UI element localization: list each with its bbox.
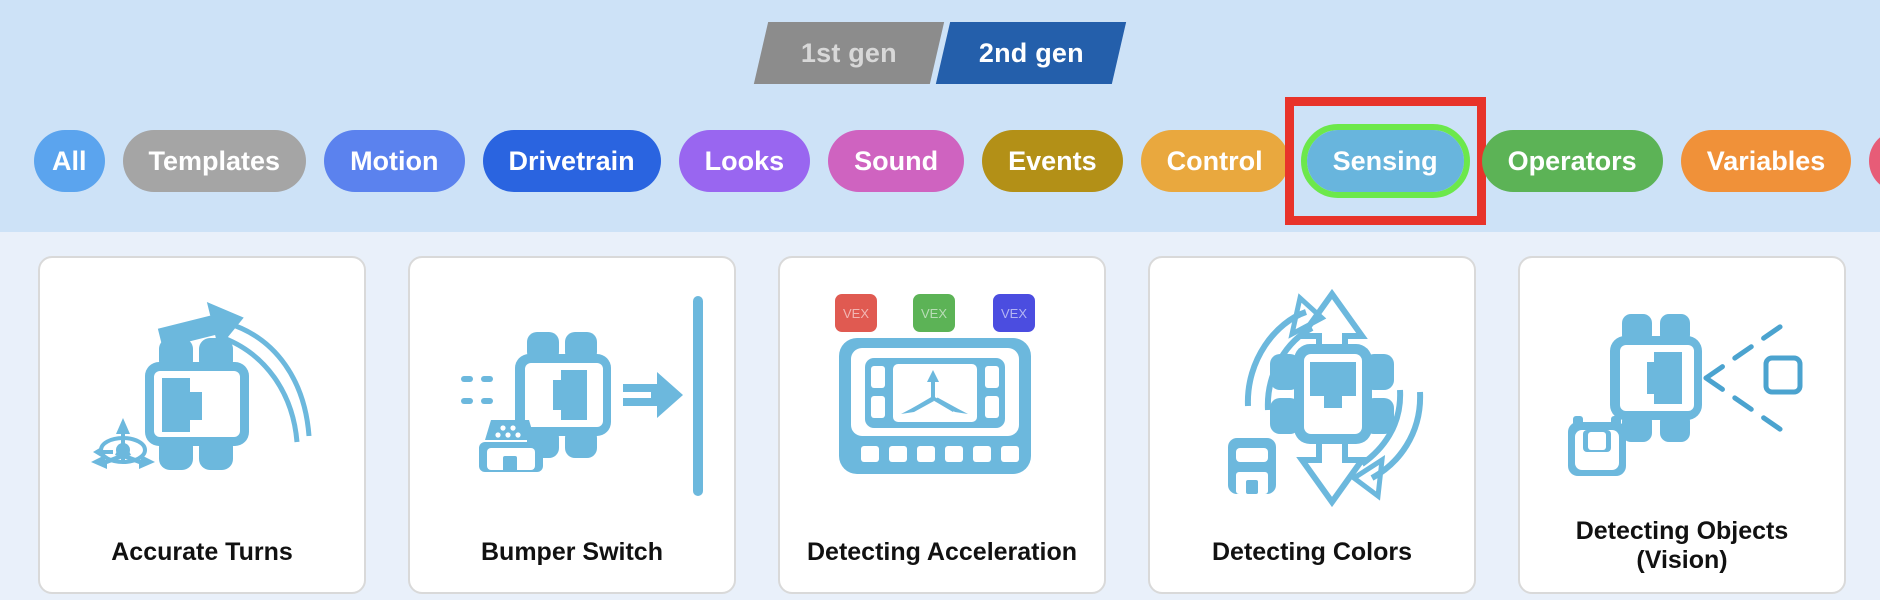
category-pill-label: Looks: [705, 146, 785, 177]
category-pill-label: Drivetrain: [509, 146, 635, 177]
category-pill-wrap-my-blocks: My Blocks: [1869, 130, 1880, 192]
robot-bumper-switch-icon: [410, 258, 734, 538]
category-pill-events[interactable]: Events: [982, 130, 1123, 192]
category-pill-my-blocks[interactable]: My Blocks: [1869, 130, 1880, 192]
tab-2nd-gen-label: 2nd gen: [979, 38, 1084, 69]
card-title: Detecting Acceleration: [780, 538, 1104, 593]
category-pill-all[interactable]: All: [34, 130, 105, 192]
category-pill-wrap-all: All: [34, 130, 105, 192]
generation-tab-bar: 1st gen 2nd gen: [0, 22, 1880, 84]
card-title: Bumper Switch: [410, 538, 734, 593]
category-pill-control[interactable]: Control: [1141, 130, 1289, 192]
tutorial-card-detecting-colors[interactable]: Detecting Colors: [1148, 256, 1476, 594]
brain-accelerometer-icon: VEX VEX VEX: [780, 258, 1104, 538]
card-title-line1: Bumper Switch: [481, 538, 663, 566]
tutorial-card-detecting-acceleration[interactable]: VEX VEX VEX: [778, 256, 1106, 594]
category-pill-label: Sound: [854, 146, 938, 177]
robot-turn-arrow-icon: [40, 258, 364, 538]
category-pill-wrap-control: Control: [1141, 130, 1289, 192]
category-filter-bar: AllTemplatesMotionDrivetrainLooksSoundEv…: [0, 128, 1880, 194]
category-pill-label: All: [52, 146, 87, 177]
category-pill-wrap-sensing: Sensing: [1307, 130, 1464, 192]
category-pill-label: Operators: [1508, 146, 1637, 177]
category-pill-sensing[interactable]: Sensing: [1307, 130, 1464, 192]
category-pill-wrap-motion: Motion: [324, 130, 464, 192]
category-pill-label: Sensing: [1333, 146, 1438, 177]
tutorials-browser: 1st gen 2nd gen AllTemplatesMotionDrivet…: [0, 0, 1880, 600]
category-pill-operators[interactable]: Operators: [1482, 130, 1663, 192]
header-panel: 1st gen 2nd gen AllTemplatesMotionDrivet…: [0, 0, 1880, 232]
category-pill-wrap-drivetrain: Drivetrain: [483, 130, 661, 192]
category-pill-looks[interactable]: Looks: [679, 130, 811, 192]
category-pill-motion[interactable]: Motion: [324, 130, 464, 192]
card-title-line1: Detecting Acceleration: [807, 538, 1077, 566]
card-title-line1: Accurate Turns: [111, 538, 293, 566]
vex-badge-green: VEX: [913, 294, 955, 332]
tab-2nd-gen[interactable]: 2nd gen: [936, 22, 1126, 84]
vex-badge-red: VEX: [835, 294, 877, 332]
card-title-line1: Detecting Objects: [1576, 517, 1789, 545]
category-pill-label: Variables: [1707, 146, 1826, 177]
category-pill-wrap-sound: Sound: [828, 130, 964, 192]
svg-text:VEX: VEX: [1001, 306, 1027, 321]
category-pill-drivetrain[interactable]: Drivetrain: [483, 130, 661, 192]
category-pill-variables[interactable]: Variables: [1681, 130, 1852, 192]
category-pill-templates[interactable]: Templates: [123, 130, 307, 192]
tab-1st-gen-label: 1st gen: [801, 38, 897, 69]
card-title: Detecting Objects (Vision): [1520, 517, 1844, 592]
card-title-line2: (Vision): [1532, 546, 1832, 575]
svg-text:VEX: VEX: [843, 306, 869, 321]
card-title-line1: Detecting Colors: [1212, 538, 1412, 566]
category-pill-label: Control: [1167, 146, 1263, 177]
tab-1st-gen[interactable]: 1st gen: [754, 22, 944, 84]
category-pill-label: Motion: [350, 146, 438, 177]
category-pill-wrap-events: Events: [982, 130, 1123, 192]
category-pill-wrap-templates: Templates: [123, 130, 307, 192]
vex-badge-blue: VEX: [993, 294, 1035, 332]
tutorial-card-accurate-turns[interactable]: Accurate Turns: [38, 256, 366, 594]
tutorial-card-detecting-objects-vision[interactable]: Detecting Objects (Vision): [1518, 256, 1846, 594]
tutorial-card-bumper-switch[interactable]: Bumper Switch: [408, 256, 736, 594]
card-title: Accurate Turns: [40, 538, 364, 593]
robot-color-sensor-icon: [1150, 258, 1474, 538]
tutorial-card-strip: Accurate Turns: [0, 232, 1880, 600]
category-pill-sound[interactable]: Sound: [828, 130, 964, 192]
category-pill-wrap-looks: Looks: [679, 130, 811, 192]
card-title: Detecting Colors: [1150, 538, 1474, 593]
category-pill-label: Events: [1008, 146, 1097, 177]
category-pill-label: Templates: [149, 146, 281, 177]
svg-text:VEX: VEX: [921, 306, 947, 321]
category-pill-wrap-variables: Variables: [1681, 130, 1852, 192]
robot-vision-sensor-icon: [1520, 258, 1844, 517]
category-pill-wrap-operators: Operators: [1482, 130, 1663, 192]
